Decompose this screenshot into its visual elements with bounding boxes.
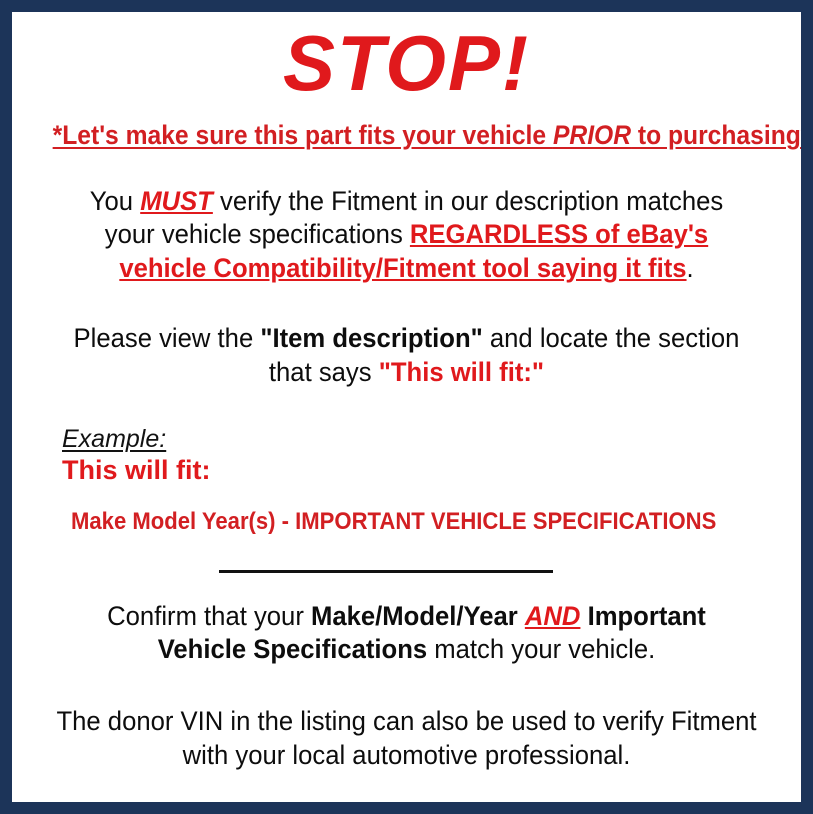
- make-model-year-emphasis: Make/Model/Year: [311, 601, 518, 631]
- itemdesc-para-seg1: Please view the: [74, 323, 261, 353]
- sub-headline: *Let's make sure this part fits your veh…: [53, 121, 761, 150]
- this-will-fit-quote: "This will fit:": [379, 357, 544, 387]
- confirm-paragraph: Confirm that your Make/Model/Year AND Im…: [45, 600, 768, 668]
- divider-rule: [219, 570, 553, 573]
- confirm-para-seg1: Confirm that your: [107, 601, 311, 631]
- example-block: Example: This will fit: Make Model Year(…: [26, 425, 787, 535]
- page-title: STOP!: [26, 12, 787, 107]
- must-para-seg1: You: [90, 186, 140, 216]
- notice-content-area: STOP! *Let's make sure this part fits yo…: [12, 12, 801, 802]
- must-verify-paragraph: You MUST verify the Fitment in our descr…: [45, 185, 768, 286]
- sub-headline-before: *Let's make sure this part fits your veh…: [53, 120, 553, 150]
- donor-vin-paragraph: The donor VIN in the listing can also be…: [45, 705, 768, 773]
- thank-you-line: Thank you for confirming Fitment!: [41, 799, 772, 814]
- and-emphasis: AND: [525, 601, 581, 631]
- divider: [26, 560, 787, 578]
- sub-headline-prior-emphasis: PRIOR: [553, 120, 631, 150]
- must-emphasis: MUST: [140, 186, 213, 216]
- example-label-row: Example:: [62, 425, 787, 454]
- confirm-para-seg2: match your vehicle.: [427, 634, 655, 664]
- example-spec-line: Make Model Year(s) - IMPORTANT VEHICLE S…: [71, 508, 730, 536]
- example-label: Example:: [62, 425, 166, 454]
- fitment-notice-card: STOP! *Let's make sure this part fits yo…: [0, 0, 813, 814]
- sub-headline-after: to purchasing*: [631, 120, 810, 150]
- must-para-seg3: .: [687, 253, 694, 283]
- item-description-paragraph: Please view the "Item description" and l…: [45, 322, 768, 390]
- example-this-will-fit: This will fit:: [62, 455, 787, 486]
- item-description-quote: "Item description": [260, 323, 482, 353]
